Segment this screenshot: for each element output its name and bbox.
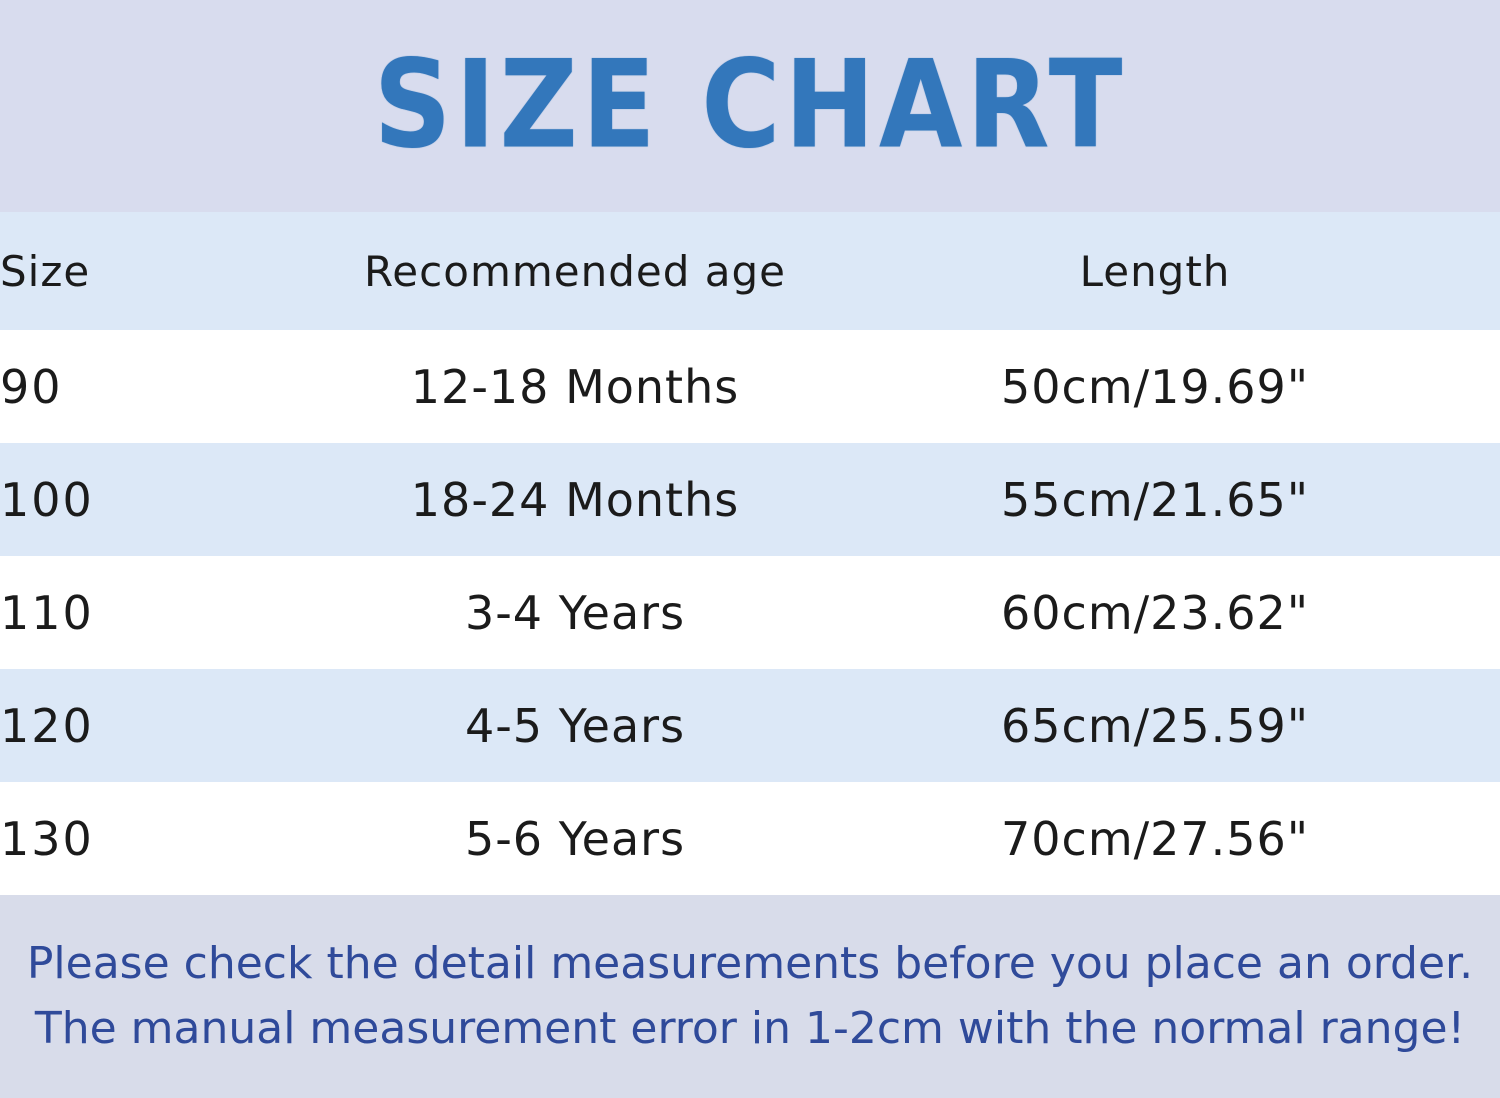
table-row: 110 3-4 Years 60cm/23.62" <box>0 556 1500 669</box>
column-header-length: Length <box>810 212 1500 330</box>
table-row: 100 18-24 Months 55cm/21.65" <box>0 443 1500 556</box>
cell-age: 3-4 Years <box>340 556 810 669</box>
cell-age: 5-6 Years <box>340 782 810 895</box>
footer-note-line-1: Please check the detail measurements bef… <box>27 939 1473 990</box>
column-header-size: Size <box>0 212 340 330</box>
cell-length: 65cm/25.59" <box>810 669 1500 782</box>
cell-age: 4-5 Years <box>340 669 810 782</box>
cell-age: 12-18 Months <box>340 330 810 443</box>
footer-note-band: Please check the detail measurements bef… <box>0 895 1500 1098</box>
footer-note-line-2: The manual measurement error in 1-2cm wi… <box>35 1004 1465 1055</box>
size-chart-card: SIZE CHART Size Recommended age Length 9… <box>0 0 1500 1098</box>
cell-length: 70cm/27.56" <box>810 782 1500 895</box>
cell-size: 120 <box>0 669 340 782</box>
table-row: 90 12-18 Months 50cm/19.69" <box>0 330 1500 443</box>
cell-size: 90 <box>0 330 340 443</box>
cell-age: 18-24 Months <box>340 443 810 556</box>
column-header-age: Recommended age <box>340 212 810 330</box>
table-header-row: Size Recommended age Length <box>0 212 1500 330</box>
cell-size: 110 <box>0 556 340 669</box>
page-title: SIZE CHART <box>374 46 1127 167</box>
table-row: 130 5-6 Years 70cm/27.56" <box>0 782 1500 895</box>
cell-size: 130 <box>0 782 340 895</box>
cell-length: 60cm/23.62" <box>810 556 1500 669</box>
cell-length: 50cm/19.69" <box>810 330 1500 443</box>
title-band: SIZE CHART <box>0 0 1500 212</box>
cell-size: 100 <box>0 443 340 556</box>
table-row: 120 4-5 Years 65cm/25.59" <box>0 669 1500 782</box>
cell-length: 55cm/21.65" <box>810 443 1500 556</box>
size-table: Size Recommended age Length 90 12-18 Mon… <box>0 212 1500 895</box>
